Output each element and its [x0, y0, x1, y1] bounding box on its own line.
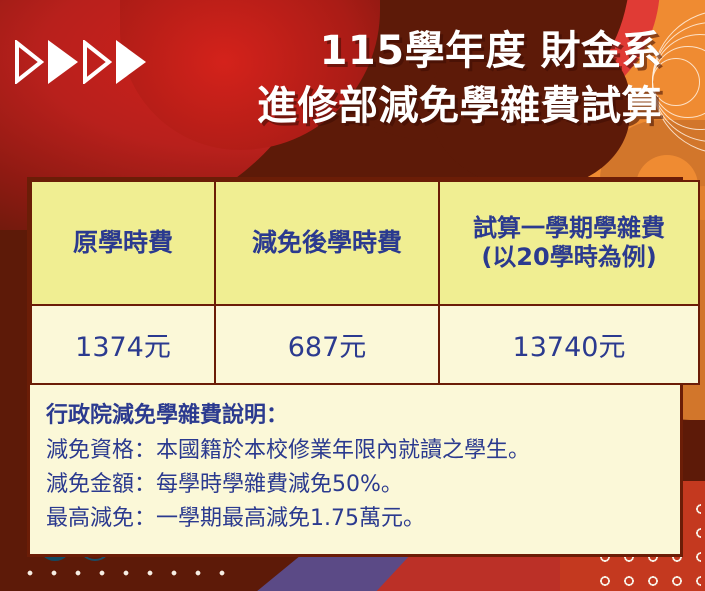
- notes-section: 行政院減免學雜費說明： 減免資格：本國籍於本校修業年限內就讀之學生。 減免金額：…: [30, 385, 680, 554]
- notes-line-amount: 減免金額：每學時學雜費減免50%。: [46, 468, 664, 502]
- poster-header: 115學年度 財金系 進修部減免學雜費試算: [0, 0, 705, 170]
- fee-table: 原學時費 減免後學時費 試算一學期學雜費 (以20學時為例) 1374元 687…: [30, 180, 700, 385]
- table-value-row: 1374元 687元 13740元: [31, 305, 699, 384]
- header-semester-estimate-line1: 試算一學期學雜費: [441, 214, 697, 243]
- table-header-row: 原學時費 減免後學時費 試算一學期學雜費 (以20學時為例): [31, 181, 699, 305]
- header-reduced-hourly-fee: 減免後學時費: [215, 181, 439, 305]
- poster-title: 115學年度 財金系 進修部減免學雜費試算: [0, 24, 680, 134]
- notes-line-maximum: 最高減免：一學期最高減免1.75萬元。: [46, 502, 664, 536]
- value-semester-estimate: 13740元: [439, 305, 699, 384]
- poster-root: 115學年度 財金系 進修部減免學雜費試算 原學時費 減免後學時費 試算一學期學…: [0, 0, 705, 591]
- header-semester-estimate-line2: (以20學時為例): [441, 243, 697, 272]
- notes-title: 行政院減免學雜費說明：: [46, 399, 664, 432]
- value-original-hourly-fee: 1374元: [31, 305, 215, 384]
- value-reduced-hourly-fee: 687元: [215, 305, 439, 384]
- fee-panel: 原學時費 減免後學時費 試算一學期學雜費 (以20學時為例) 1374元 687…: [27, 177, 683, 557]
- title-line-2: 進修部減免學雜費試算: [0, 79, 662, 134]
- header-original-hourly-fee: 原學時費: [31, 181, 215, 305]
- header-semester-estimate: 試算一學期學雜費 (以20學時為例): [439, 181, 699, 305]
- notes-line-eligibility: 減免資格：本國籍於本校修業年限內就讀之學生。: [46, 434, 664, 468]
- title-line-1: 115學年度 財金系: [0, 24, 662, 79]
